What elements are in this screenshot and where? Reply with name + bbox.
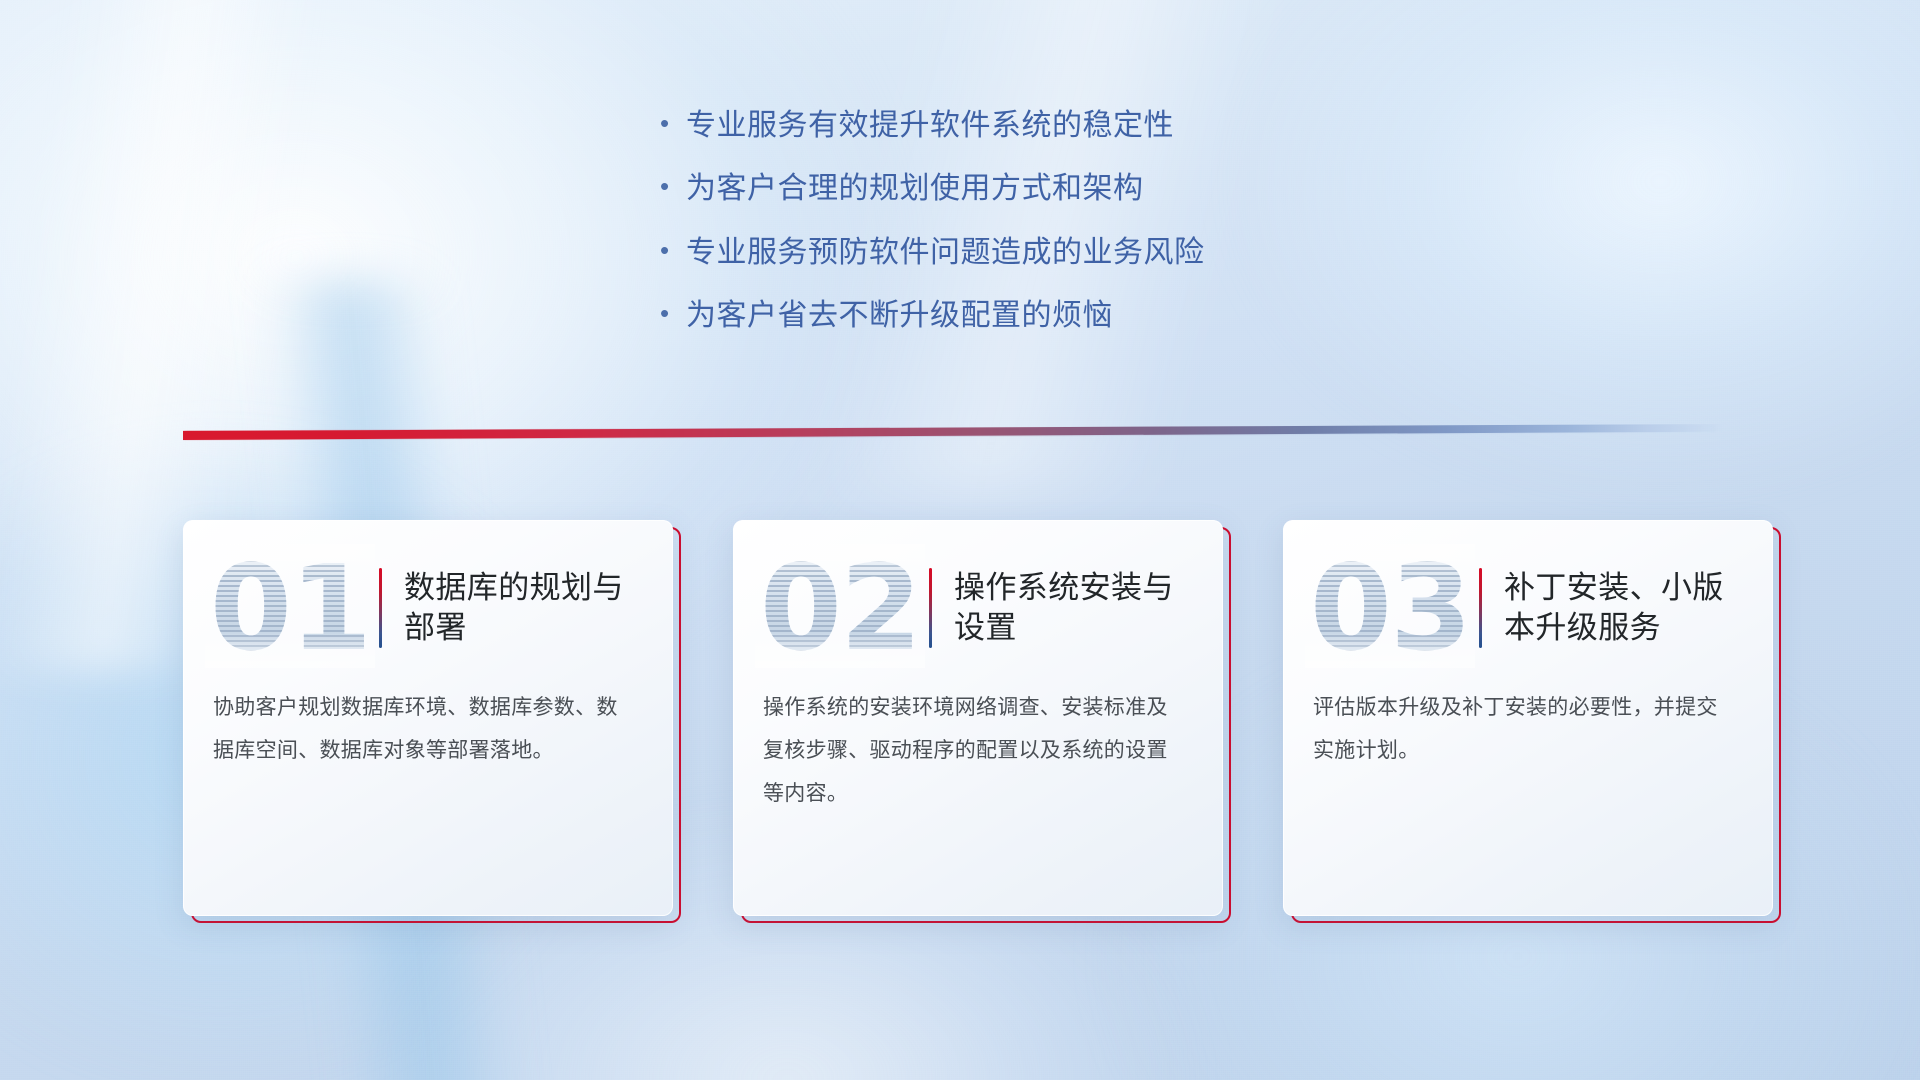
- card-header: 01 数据库的规划与部署: [183, 520, 673, 670]
- card-number: 03: [1305, 549, 1475, 667]
- bullet-marker-icon: •: [660, 110, 686, 136]
- card-body-text: 操作系统的安装环境网络调查、安装标准及复核步骤、驱动程序的配置以及系统的设置等内…: [733, 670, 1223, 815]
- section-divider: [183, 424, 1723, 440]
- list-item: • 为客户合理的规划使用方式和架构: [660, 171, 1560, 206]
- service-card-02[interactable]: 02 操作系统安装与设置 操作系统的安装环境网络调查、安装标准及复核步骤、驱动程…: [733, 520, 1227, 920]
- card-title: 补丁安装、小版本升级服务: [1504, 568, 1754, 649]
- card-header: 03 补丁安装、小版本升级服务: [1283, 520, 1773, 670]
- benefits-bullet-list: • 专业服务有效提升软件系统的稳定性 • 为客户合理的规划使用方式和架构 • 专…: [660, 108, 1560, 362]
- card-header: 02 操作系统安装与设置: [733, 520, 1223, 670]
- card-surface: 01 数据库的规划与部署 协助客户规划数据库环境、数据库参数、数据库空间、数据库…: [183, 520, 673, 916]
- bullet-marker-icon: •: [660, 173, 686, 199]
- service-card-03[interactable]: 03 补丁安装、小版本升级服务 评估版本升级及补丁安装的必要性，并提交实施计划。: [1283, 520, 1777, 920]
- divider-wedge: [183, 424, 1723, 440]
- card-title: 数据库的规划与部署: [404, 568, 654, 649]
- card-divider-rule: [1479, 568, 1482, 648]
- bullet-marker-icon: •: [660, 237, 686, 263]
- bullet-text: 为客户省去不断升级配置的烦恼: [686, 298, 1113, 333]
- card-surface: 02 操作系统安装与设置 操作系统的安装环境网络调查、安装标准及复核步骤、驱动程…: [733, 520, 1223, 916]
- bullet-text: 为客户合理的规划使用方式和架构: [686, 171, 1144, 206]
- card-title: 操作系统安装与设置: [954, 568, 1204, 649]
- card-body-text: 协助客户规划数据库环境、数据库参数、数据库空间、数据库对象等部署落地。: [183, 670, 673, 772]
- bullet-text: 专业服务预防软件问题造成的业务风险: [686, 235, 1205, 270]
- card-number: 02: [755, 549, 925, 667]
- bullet-marker-icon: •: [660, 300, 686, 326]
- list-item: • 专业服务有效提升软件系统的稳定性: [660, 108, 1560, 143]
- card-divider-rule: [379, 568, 382, 648]
- card-number: 01: [205, 549, 375, 667]
- list-item: • 为客户省去不断升级配置的烦恼: [660, 298, 1560, 333]
- list-item: • 专业服务预防软件问题造成的业务风险: [660, 235, 1560, 270]
- card-divider-rule: [929, 568, 932, 648]
- card-body-text: 评估版本升级及补丁安装的必要性，并提交实施计划。: [1283, 670, 1773, 772]
- service-card-01[interactable]: 01 数据库的规划与部署 协助客户规划数据库环境、数据库参数、数据库空间、数据库…: [183, 520, 677, 920]
- bullet-text: 专业服务有效提升软件系统的稳定性: [686, 108, 1174, 143]
- service-card-group: 01 数据库的规划与部署 协助客户规划数据库环境、数据库参数、数据库空间、数据库…: [183, 520, 1777, 920]
- card-surface: 03 补丁安装、小版本升级服务 评估版本升级及补丁安装的必要性，并提交实施计划。: [1283, 520, 1773, 916]
